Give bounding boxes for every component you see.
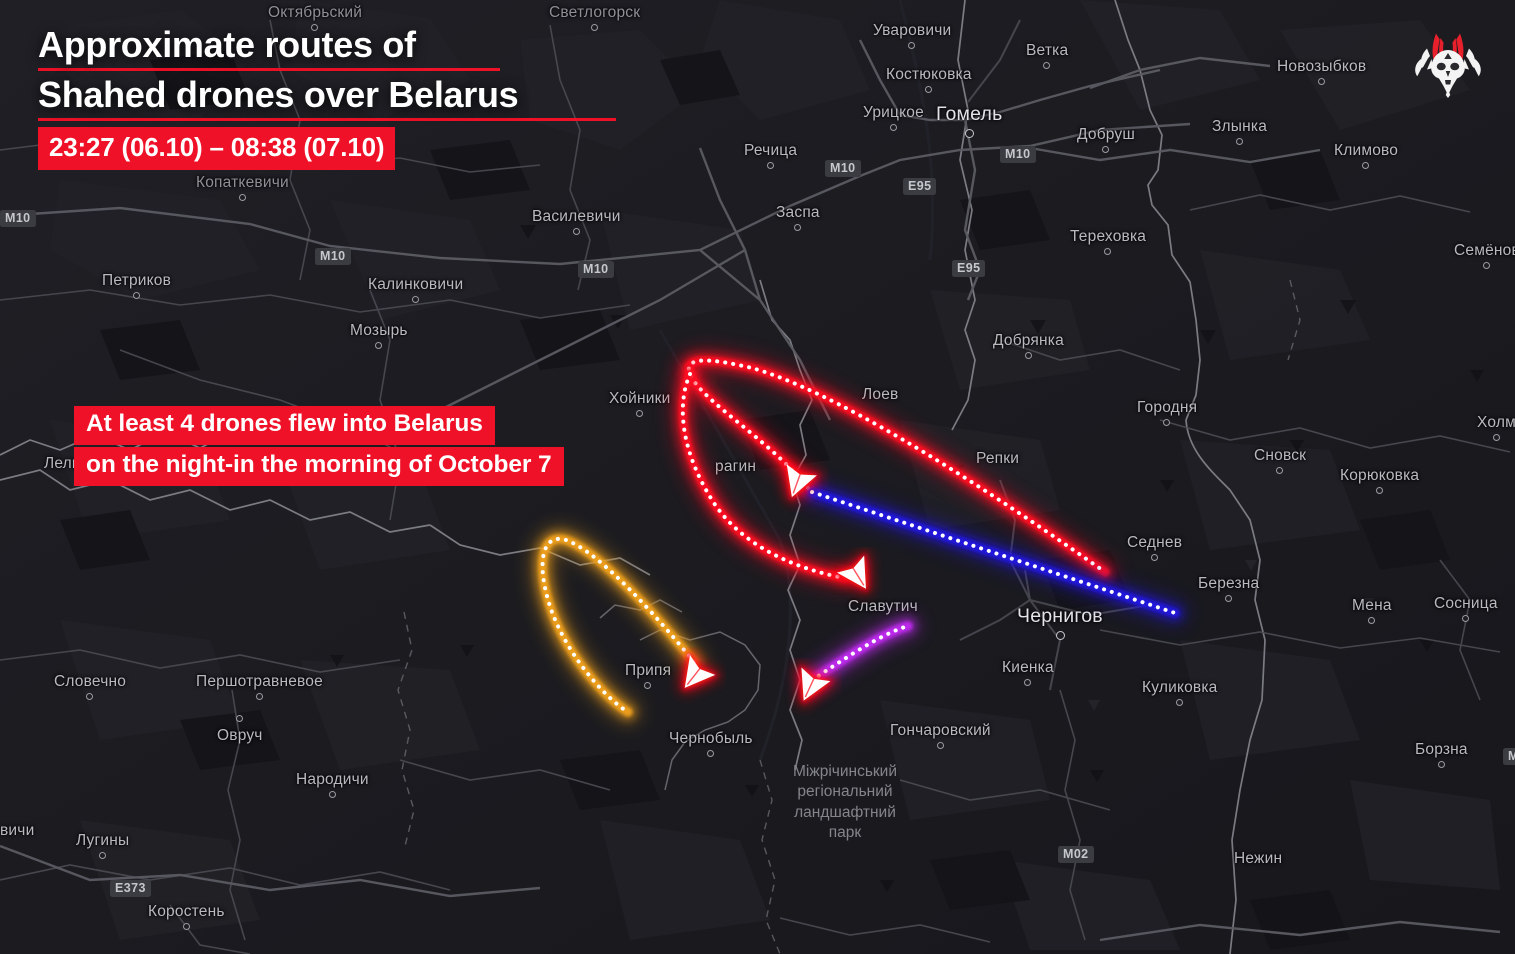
drone-marker-chernobyl[interactable] bbox=[778, 658, 842, 716]
drone-icon bbox=[765, 454, 829, 512]
title-line-1: Approximate routes of bbox=[38, 24, 616, 66]
drone-icon bbox=[778, 658, 842, 716]
map-screenshot: ОктябрьскийСветлогорскУваровичиВеткаНово… bbox=[0, 0, 1515, 954]
title-underline-2 bbox=[38, 118, 616, 121]
skull-horns-logo bbox=[1409, 26, 1487, 98]
title-block: Approximate routes of Shahed drones over… bbox=[38, 24, 616, 170]
title-line-2: Shahed drones over Belarus bbox=[38, 74, 616, 116]
annotation-line-1: At least 4 drones flew into Belarus bbox=[74, 406, 495, 445]
drone-marker-slavutych[interactable] bbox=[826, 547, 890, 605]
logo-graphic bbox=[1409, 26, 1487, 98]
drone-icon bbox=[662, 647, 726, 705]
title-underline-1 bbox=[38, 68, 500, 71]
drone-icon bbox=[826, 547, 890, 605]
drone-marker-prypiat[interactable] bbox=[662, 647, 726, 705]
annotation-line-2: on the night-in the morning of October 7 bbox=[74, 447, 564, 486]
annotation-callout: At least 4 drones flew into Belarus on t… bbox=[74, 406, 564, 486]
drone-marker-brahin[interactable] bbox=[765, 454, 829, 512]
time-range-badge: 23:27 (06.10) – 08:38 (07.10) bbox=[38, 127, 395, 170]
